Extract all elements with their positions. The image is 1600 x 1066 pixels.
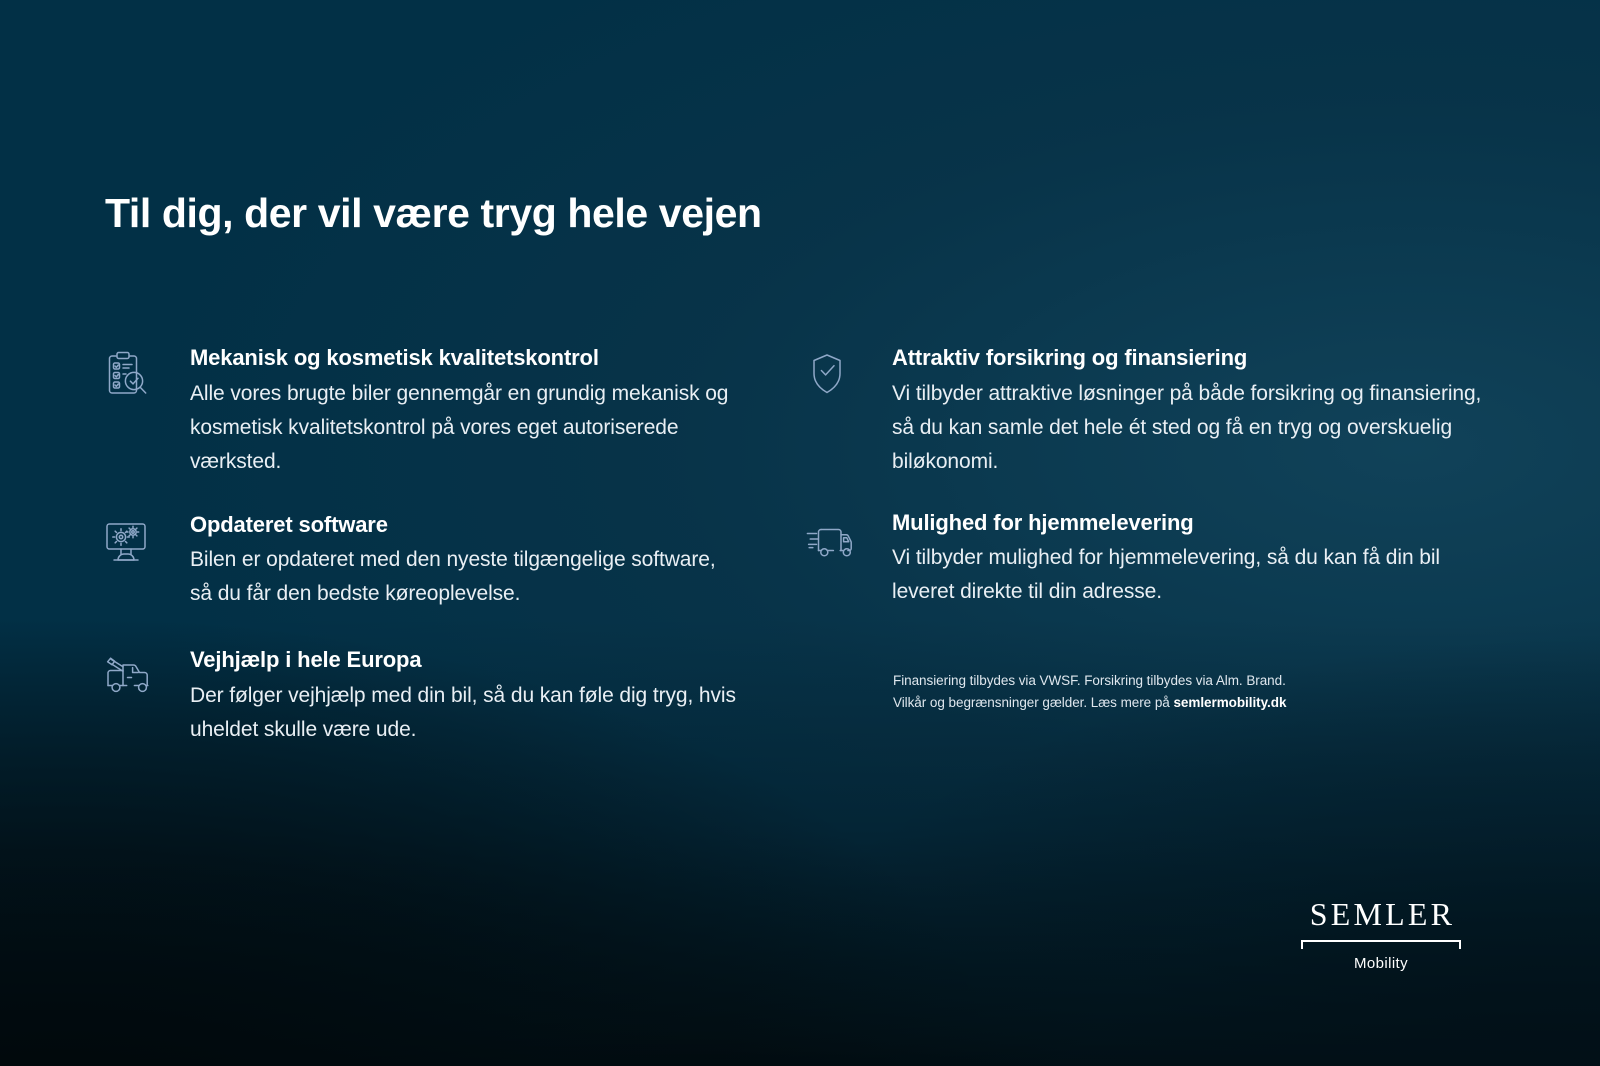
logo-divider-bar xyxy=(1301,940,1461,942)
disclaimer-line-2-text: Vilkår og begrænsninger gælder. Læs mere… xyxy=(893,695,1173,710)
feature-body: Mulighed for hjemmelevering Vi tilbyder … xyxy=(892,509,1482,610)
feature-item: Vejhjælp i hele Europa Der følger vejhjæ… xyxy=(100,646,740,747)
disclaimer-website-link[interactable]: semlermobility.dk xyxy=(1173,695,1286,710)
semler-mobility-logo: SEMLER Mobility xyxy=(1301,898,1461,971)
feature-title: Mulighed for hjemmelevering xyxy=(892,509,1482,537)
tow-truck-icon xyxy=(100,646,190,700)
feature-item: Mekanisk og kosmetisk kvalitetskontrol A… xyxy=(100,344,740,479)
feature-title: Attraktiv forsikring og finansiering xyxy=(892,344,1482,372)
delivery-truck-icon xyxy=(802,509,892,563)
feature-title: Vejhjælp i hele Europa xyxy=(190,646,740,674)
clipboard-check-magnifier-icon xyxy=(100,344,190,398)
logo-divider-tick-left xyxy=(1301,940,1303,949)
logo-divider-tick-right xyxy=(1459,940,1461,949)
feature-description: Alle vores brugte biler gennemgår en gru… xyxy=(190,377,740,479)
features-column-right: Attraktiv forsikring og finansiering Vi … xyxy=(802,344,1482,609)
promo-panel: Til dig, der vil være tryg hele vejen xyxy=(0,0,1600,1066)
disclaimer-line-1: Finansiering tilbydes via VWSF. Forsikri… xyxy=(893,670,1413,692)
feature-body: Attraktiv forsikring og finansiering Vi … xyxy=(892,344,1482,479)
feature-title: Mekanisk og kosmetisk kvalitetskontrol xyxy=(190,344,740,372)
shield-check-icon xyxy=(802,344,892,398)
feature-description: Bilen er opdateret med den nyeste tilgæn… xyxy=(190,543,740,611)
page-title: Til dig, der vil være tryg hele vejen xyxy=(105,191,762,236)
logo-divider xyxy=(1301,940,1461,949)
feature-body: Vejhjælp i hele Europa Der følger vejhjæ… xyxy=(190,646,740,747)
logo-wordmark: SEMLER xyxy=(1301,898,1461,930)
disclaimer-line-2: Vilkår og begrænsninger gælder. Læs mere… xyxy=(893,692,1413,714)
feature-item: Mulighed for hjemmelevering Vi tilbyder … xyxy=(802,509,1482,610)
feature-item: Opdateret software Bilen er opdateret me… xyxy=(100,511,740,612)
feature-description: Der følger vejhjælp med din bil, så du k… xyxy=(190,679,740,747)
feature-body: Opdateret software Bilen er opdateret me… xyxy=(190,511,740,612)
disclaimer: Finansiering tilbydes via VWSF. Forsikri… xyxy=(893,670,1413,715)
feature-body: Mekanisk og kosmetisk kvalitetskontrol A… xyxy=(190,344,740,479)
feature-description: Vi tilbyder mulighed for hjemmelevering,… xyxy=(892,541,1482,609)
features-column-left: Mekanisk og kosmetisk kvalitetskontrol A… xyxy=(100,344,740,747)
feature-description: Vi tilbyder attraktive løsninger på både… xyxy=(892,377,1482,479)
feature-item: Attraktiv forsikring og finansiering Vi … xyxy=(802,344,1482,479)
monitor-gears-icon xyxy=(100,511,190,565)
logo-subtitle: Mobility xyxy=(1301,956,1461,971)
feature-title: Opdateret software xyxy=(190,511,740,539)
